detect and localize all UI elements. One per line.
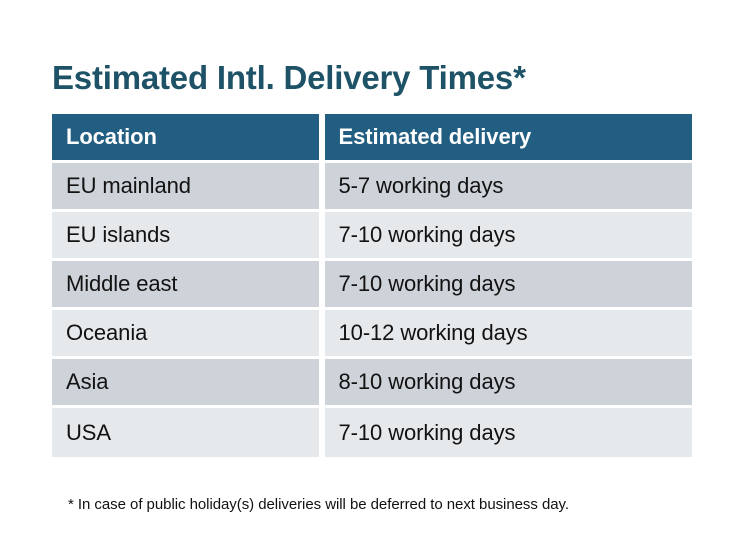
table-row: Oceania 10-12 working days (52, 310, 692, 359)
table-row: Asia 8-10 working days (52, 359, 692, 408)
cell-location: Middle east (52, 261, 325, 310)
table-header-row: Location Estimated delivery (52, 114, 692, 163)
cell-delivery: 7-10 working days (325, 212, 692, 261)
table-row: USA 7-10 working days (52, 408, 692, 457)
delivery-times-table: Location Estimated delivery EU mainland … (52, 114, 692, 457)
table-row: EU mainland 5-7 working days (52, 163, 692, 212)
delivery-times-page: Estimated Intl. Delivery Times* Location… (0, 0, 745, 536)
cell-location: Oceania (52, 310, 325, 359)
cell-location: USA (52, 408, 325, 457)
table-row: EU islands 7-10 working days (52, 212, 692, 261)
cell-delivery: 7-10 working days (325, 408, 692, 457)
footnote: * In case of public holiday(s) deliverie… (68, 496, 569, 513)
table-body: EU mainland 5-7 working days EU islands … (52, 163, 692, 457)
cell-location: Asia (52, 359, 325, 408)
cell-delivery: 10-12 working days (325, 310, 692, 359)
cell-delivery: 8-10 working days (325, 359, 692, 408)
table-row: Middle east 7-10 working days (52, 261, 692, 310)
cell-location: EU islands (52, 212, 325, 261)
cell-location: EU mainland (52, 163, 325, 212)
page-title: Estimated Intl. Delivery Times* (52, 59, 526, 97)
column-header-estimated-delivery: Estimated delivery (325, 114, 692, 163)
column-header-location: Location (52, 114, 325, 163)
cell-delivery: 5-7 working days (325, 163, 692, 212)
table-header: Location Estimated delivery (52, 114, 692, 163)
cell-delivery: 7-10 working days (325, 261, 692, 310)
